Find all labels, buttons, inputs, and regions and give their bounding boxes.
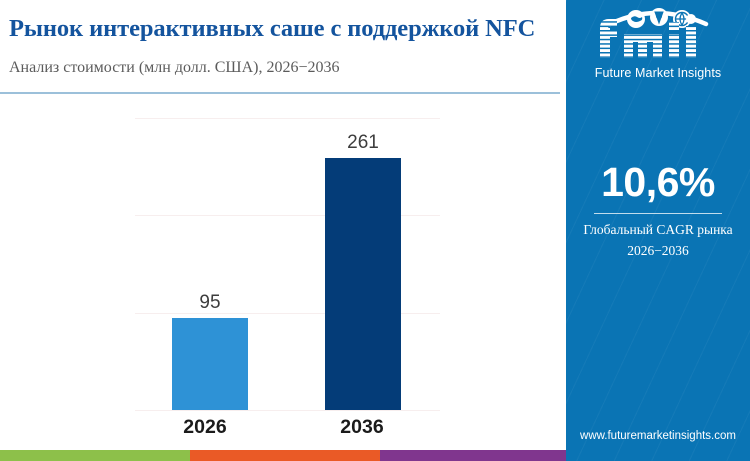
x-axis-tick-label: 2036 [292, 416, 432, 439]
strip-segment-green [0, 450, 190, 461]
bar-2036 [325, 158, 401, 410]
cagr-value: 10,6% [566, 159, 750, 206]
chart-header: Рынок интерактивных саше с поддержкой NF… [0, 0, 566, 94]
globe-africa-icon [650, 8, 668, 26]
cagr-divider [594, 213, 722, 214]
chart-subtitle: Анализ стоимости (млн долл. США), 2026−2… [9, 58, 557, 78]
x-axis-tick-label: 2026 [135, 416, 275, 439]
bar-2026 [172, 318, 248, 410]
globe-americas-icon [627, 10, 645, 28]
gridline [135, 118, 440, 119]
logo-tagline: Future Market Insights [566, 66, 750, 80]
cagr-caption-line1: Глобальный CAGR рынка [566, 222, 750, 238]
strip-segment-purple [380, 450, 566, 461]
side-panel: Future Market Insights 10,6% Глобальный … [566, 0, 750, 461]
fmi-logo-mark [566, 8, 750, 64]
bar-chart-plot: 95 261 [135, 118, 440, 410]
gridline [135, 410, 440, 411]
bottom-color-strip [0, 450, 566, 461]
page-title: Рынок интерактивных саше с поддержкой NF… [9, 14, 557, 44]
infographic-root: Рынок интерактивных саше с поддержкой NF… [0, 0, 750, 461]
website-url[interactable]: www.futuremarketinsights.com [566, 430, 750, 442]
bar-value-label: 261 [303, 132, 423, 154]
fmi-logo[interactable]: Future Market Insights [566, 8, 750, 86]
chart-area: Рынок интерактивных саше с поддержкой NF… [0, 0, 566, 461]
strip-segment-orange [190, 450, 380, 461]
bar-value-label: 95 [150, 292, 270, 314]
cagr-caption-line2: 2026−2036 [566, 243, 750, 259]
header-divider [0, 92, 560, 94]
